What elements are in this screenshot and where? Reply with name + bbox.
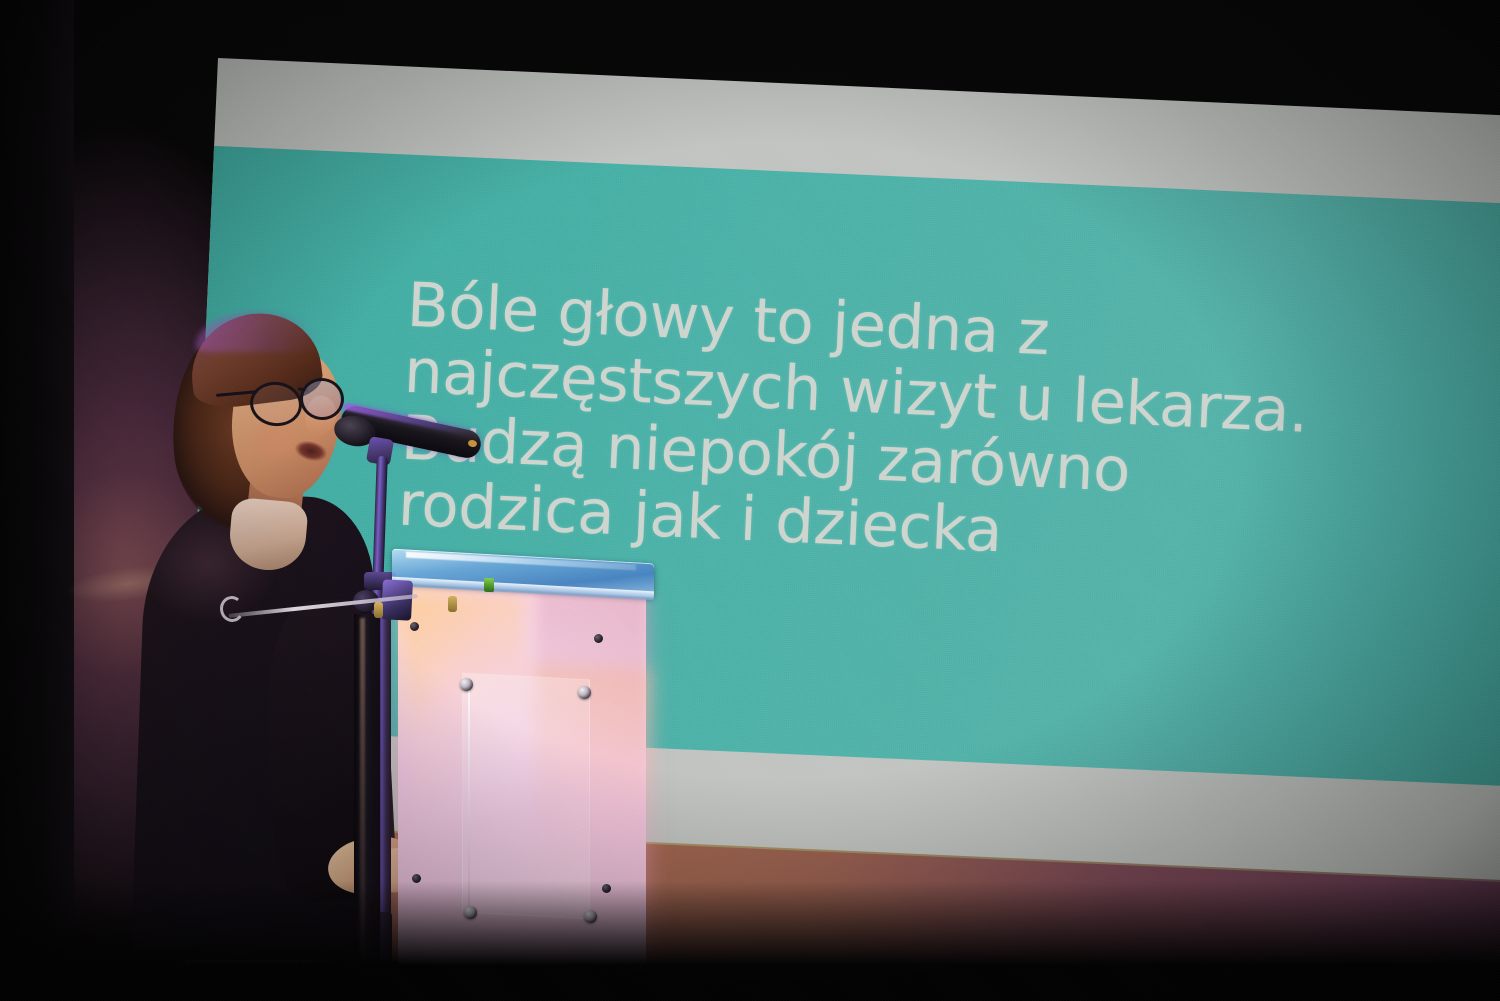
green-led-indicator <box>484 578 494 593</box>
lectern-screw-top-right <box>594 634 603 643</box>
stage-left-dark-edge <box>0 0 74 1001</box>
lectern-screw-top-left <box>410 622 419 631</box>
stage-photo: Bóle głowy to jedna z najczęstszych wizy… <box>0 0 1500 1001</box>
speaker-hair-rimlight <box>196 312 318 352</box>
stage-floor-shadow <box>0 881 1500 1001</box>
brass-fitting-right <box>448 596 457 612</box>
lectern-plate-rod <box>468 684 470 912</box>
lectern-standoff-upper-right <box>578 686 591 699</box>
lectern-standoff-upper-left <box>460 678 473 691</box>
brass-fitting-left <box>374 602 383 618</box>
slide-text-block: Bóle głowy to jedna z najczęstszych wizy… <box>397 273 1500 589</box>
